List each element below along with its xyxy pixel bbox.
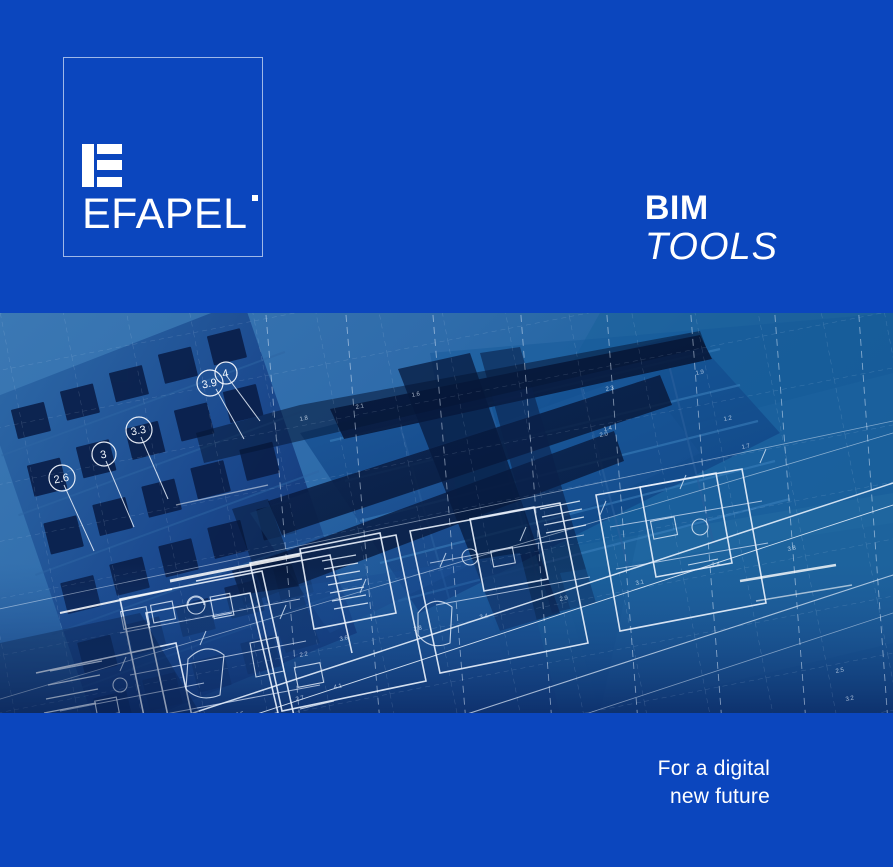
cover-hero-image: 3.5 2.7 4.1 2.2 3.6 2.8 3.4 2.9 3.1 2.4 … [0,313,893,713]
efapel-wordmark: EFAPEL [82,193,248,236]
tagline-line-1: For a digital [658,755,770,783]
logo-frame: EFAPEL [63,57,263,257]
cover-title-block: BIM TOOLS [645,190,778,268]
tagline: For a digital new future [658,755,770,812]
efapel-wordmark-text: EFAPEL [82,190,248,238]
logo-lockup: EFAPEL [82,144,250,236]
tagline-line-2: new future [658,783,770,811]
architecture-blueprint-graphic: 3.5 2.7 4.1 2.2 3.6 2.8 3.4 2.9 3.1 2.4 … [0,313,893,713]
efapel-e-mark-icon [82,144,122,187]
brochure-cover: EFAPEL BIM TOOLS [0,0,893,867]
top-brand-band: EFAPEL BIM TOOLS [0,0,893,313]
page-title-bim: BIM [645,190,778,227]
page-title-tools: TOOLS [645,227,778,268]
registered-trademark-icon [252,195,258,201]
bottom-brand-band: For a digital new future [0,713,893,867]
